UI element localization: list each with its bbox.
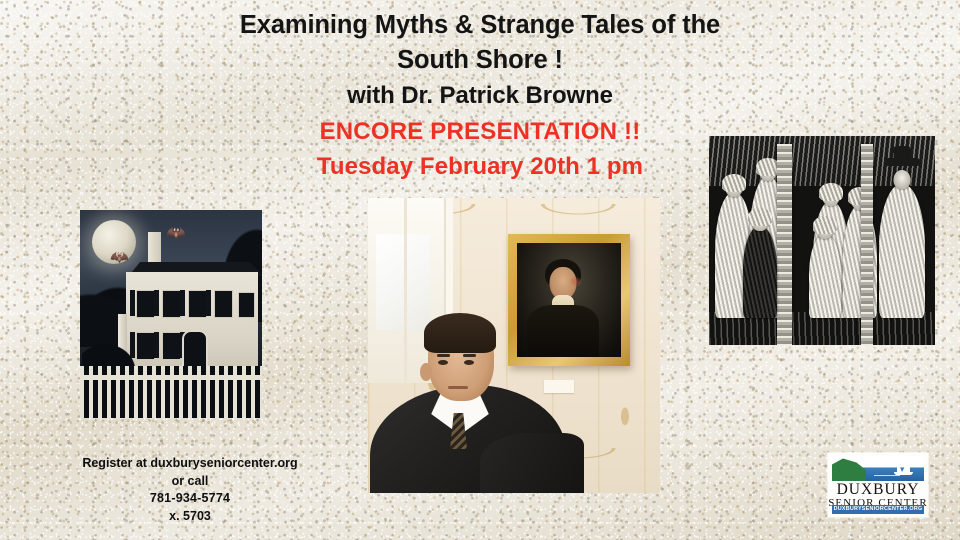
figure-bonnet — [819, 183, 843, 201]
duxbury-senior-center-logo: DUXBURY SENIOR CENTER DUXBURYSENIORCENTE… — [828, 453, 928, 517]
figure-bonnet — [748, 208, 772, 226]
shutter — [154, 332, 159, 358]
poster-presenter-line: with Dr. Patrick Browne — [0, 78, 960, 114]
speaker-figure — [376, 297, 554, 493]
register-website-line: Register at duxburyseniorcenter.org — [60, 455, 320, 473]
birch-tree-trunk — [777, 144, 792, 345]
registration-info: Register at duxburyseniorcenter.org or c… — [60, 455, 320, 525]
colonial-figure — [809, 234, 841, 318]
window — [162, 332, 181, 360]
speaker-eye — [464, 360, 474, 365]
window — [188, 290, 207, 318]
speaker-hair — [424, 313, 496, 353]
figure-bonnet — [722, 174, 746, 192]
logo-url-bar: DUXBURYSENIORCENTER.ORG — [832, 505, 924, 514]
colonial-child-figure — [743, 226, 777, 318]
shutter — [130, 290, 135, 316]
bat-icon: 🦇 — [166, 226, 186, 242]
birch-tree-trunk — [861, 144, 873, 345]
picket-fence — [80, 366, 262, 418]
speaker-eyebrow — [437, 354, 450, 357]
window — [162, 290, 181, 318]
logo-sailboat-hull — [894, 472, 913, 475]
speaker-eyebrow — [463, 354, 476, 357]
logo-harbor-illustration — [832, 456, 924, 481]
speaker-ear — [420, 363, 432, 381]
colonial-man-figure — [879, 184, 925, 318]
poster-title-line-1: Examining Myths & Strange Tales of the — [0, 8, 960, 43]
portrait-cheek — [571, 278, 580, 285]
logo-green-hill — [832, 456, 866, 481]
logo-sailboat-mainsail — [902, 457, 910, 472]
event-poster: Examining Myths & Strange Tales of the S… — [0, 0, 960, 540]
speaker-arm — [480, 433, 584, 493]
photo-haunted-house: 🦇 🦇 — [80, 210, 262, 418]
register-phone-number: 781-934-5774 — [60, 490, 320, 508]
figure-head — [894, 170, 911, 189]
register-extension: x. 5703 — [60, 508, 320, 526]
window — [214, 290, 233, 318]
pilgrim-hat-icon — [885, 158, 919, 166]
logo-name-line-1: DUXBURY — [828, 482, 928, 498]
engraving-scene — [709, 136, 935, 345]
fence-rail — [80, 375, 262, 380]
register-or-call-label: or call — [60, 473, 320, 491]
figure-bonnet — [813, 216, 837, 234]
speaker-mouth — [448, 386, 468, 389]
night-sky: 🦇 🦇 — [80, 210, 262, 418]
shutter — [206, 290, 211, 316]
shutter — [180, 290, 185, 316]
poster-title-line-2: South Shore ! — [0, 43, 960, 78]
shutter — [154, 290, 159, 316]
photo-speaker-portrait — [368, 198, 660, 493]
window — [136, 290, 155, 318]
speaker-eye — [438, 360, 448, 365]
photo-colonial-engraving — [709, 136, 935, 345]
window — [238, 292, 255, 318]
